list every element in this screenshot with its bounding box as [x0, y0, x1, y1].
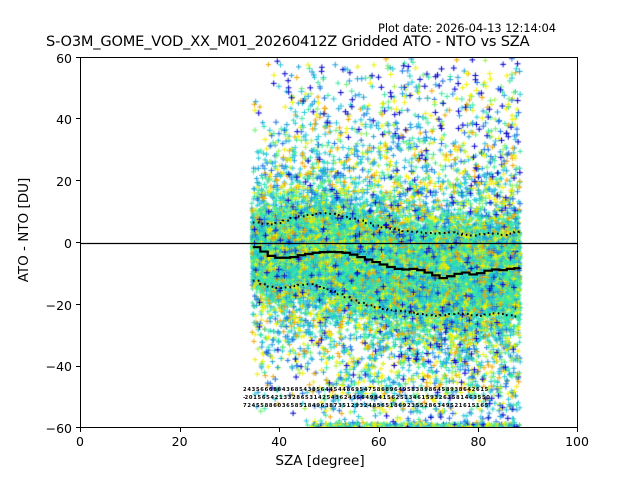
xtick-label-60: 60 [349, 434, 409, 449]
xtick-label-40: 40 [249, 434, 309, 449]
chart-page: Plot date: 2026-04-13 12:14:04 S-O3M_GOM… [0, 0, 640, 480]
xtick-mark-40 [279, 428, 280, 432]
xtick-mark-20 [180, 428, 181, 432]
upper-percentile-line [253, 213, 519, 235]
plot-area: 2 4 3 5 6 6 6 8 6 4 3 6 8 5 4 3 8 5 6 4 … [80, 57, 578, 428]
xtick-label-100: 100 [547, 434, 607, 449]
bin-statistics-row-2: -2 0 1 5 6 5 4 2 1 3 3 2 8 6 5 3 1 4 2 5… [243, 396, 489, 401]
xtick-label-80: 80 [448, 434, 508, 449]
bin-statistics-row-1: 2 4 3 5 6 6 6 8 6 4 3 6 8 5 4 3 8 5 6 4 … [243, 388, 488, 393]
xtick-mark-100 [577, 428, 578, 432]
xtick-mark-0 [80, 428, 81, 432]
ytick-label-minus40: −40 [24, 359, 72, 374]
xtick-label-20: 20 [150, 434, 210, 449]
plot-clip: 2 4 3 5 6 6 6 8 6 4 3 6 8 5 4 3 8 5 6 4 … [81, 58, 577, 427]
xtick-label-0: 0 [50, 434, 110, 449]
median-line [253, 247, 519, 278]
x-axis-label: SZA [degree] [0, 453, 640, 469]
xtick-mark-80 [478, 428, 479, 432]
lower-percentile-line [253, 281, 519, 317]
xtick-mark-60 [379, 428, 380, 432]
bin-statistics-row-3: 7 2 4 5 5 8 8 6 0 3 6 5 8 5 1 8 4 9 6 3 … [243, 404, 488, 409]
ytick-label-60: 60 [24, 51, 72, 66]
y-axis-label: ATO - NTO [DU] [16, 120, 32, 340]
page-title: S-O3M_GOME_VOD_XX_M01_20260412Z Gridded … [46, 33, 529, 50]
statistics-lines-layer [81, 58, 577, 427]
